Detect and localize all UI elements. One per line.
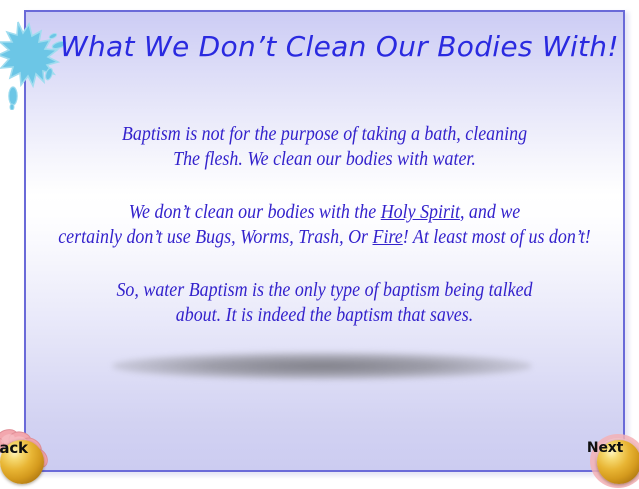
paragraph-2: We don’t clean our bodies with the Holy … [55, 200, 593, 250]
text-run: Baptism is not for the purpose of taking… [122, 124, 527, 145]
text-run: , and we [460, 202, 520, 223]
slide-body: Baptism is not for the purpose of taking… [32, 122, 617, 328]
next-button[interactable]: Next [583, 426, 639, 489]
floor-shadow [112, 352, 532, 380]
paragraph-3-line-2: about. It is indeed the baptism that sav… [55, 303, 593, 328]
paragraph-2-line-1: We don’t clean our bodies with the Holy … [55, 200, 593, 225]
back-button-label: Back [0, 426, 30, 470]
text-run: So, water Baptism is the only type of ba… [116, 280, 532, 301]
paragraph-3: So, water Baptism is the only type of ba… [55, 278, 593, 328]
paragraph-1: Baptism is not for the purpose of taking… [55, 122, 593, 172]
paragraph-3-line-1: So, water Baptism is the only type of ba… [55, 278, 593, 303]
emphasis-fire: Fire [373, 227, 403, 248]
back-button[interactable]: Back [0, 426, 56, 489]
paragraph-2-line-2: certainly don’t use Bugs, Worms, Trash, … [55, 225, 593, 250]
text-run: certainly don’t use Bugs, Worms, Trash, … [58, 227, 372, 248]
next-button-label: Next [583, 426, 627, 470]
emphasis-holy-spirit: Holy Spirit [381, 202, 460, 223]
slide-title: What We Don’t Clean Our Bodies With! [60, 30, 580, 63]
text-run: about. It is indeed the baptism that sav… [176, 305, 473, 326]
text-run: ! At least most of us don’t! [403, 227, 591, 248]
text-run: The flesh. We clean our bodies with wate… [173, 149, 476, 170]
presentation-slide: What We Don’t Clean Our Bodies With! Bap… [0, 0, 639, 489]
paragraph-1-line-2: The flesh. We clean our bodies with wate… [55, 147, 593, 172]
text-run: We don’t clean our bodies with the [129, 202, 381, 223]
paragraph-1-line-1: Baptism is not for the purpose of taking… [55, 122, 593, 147]
